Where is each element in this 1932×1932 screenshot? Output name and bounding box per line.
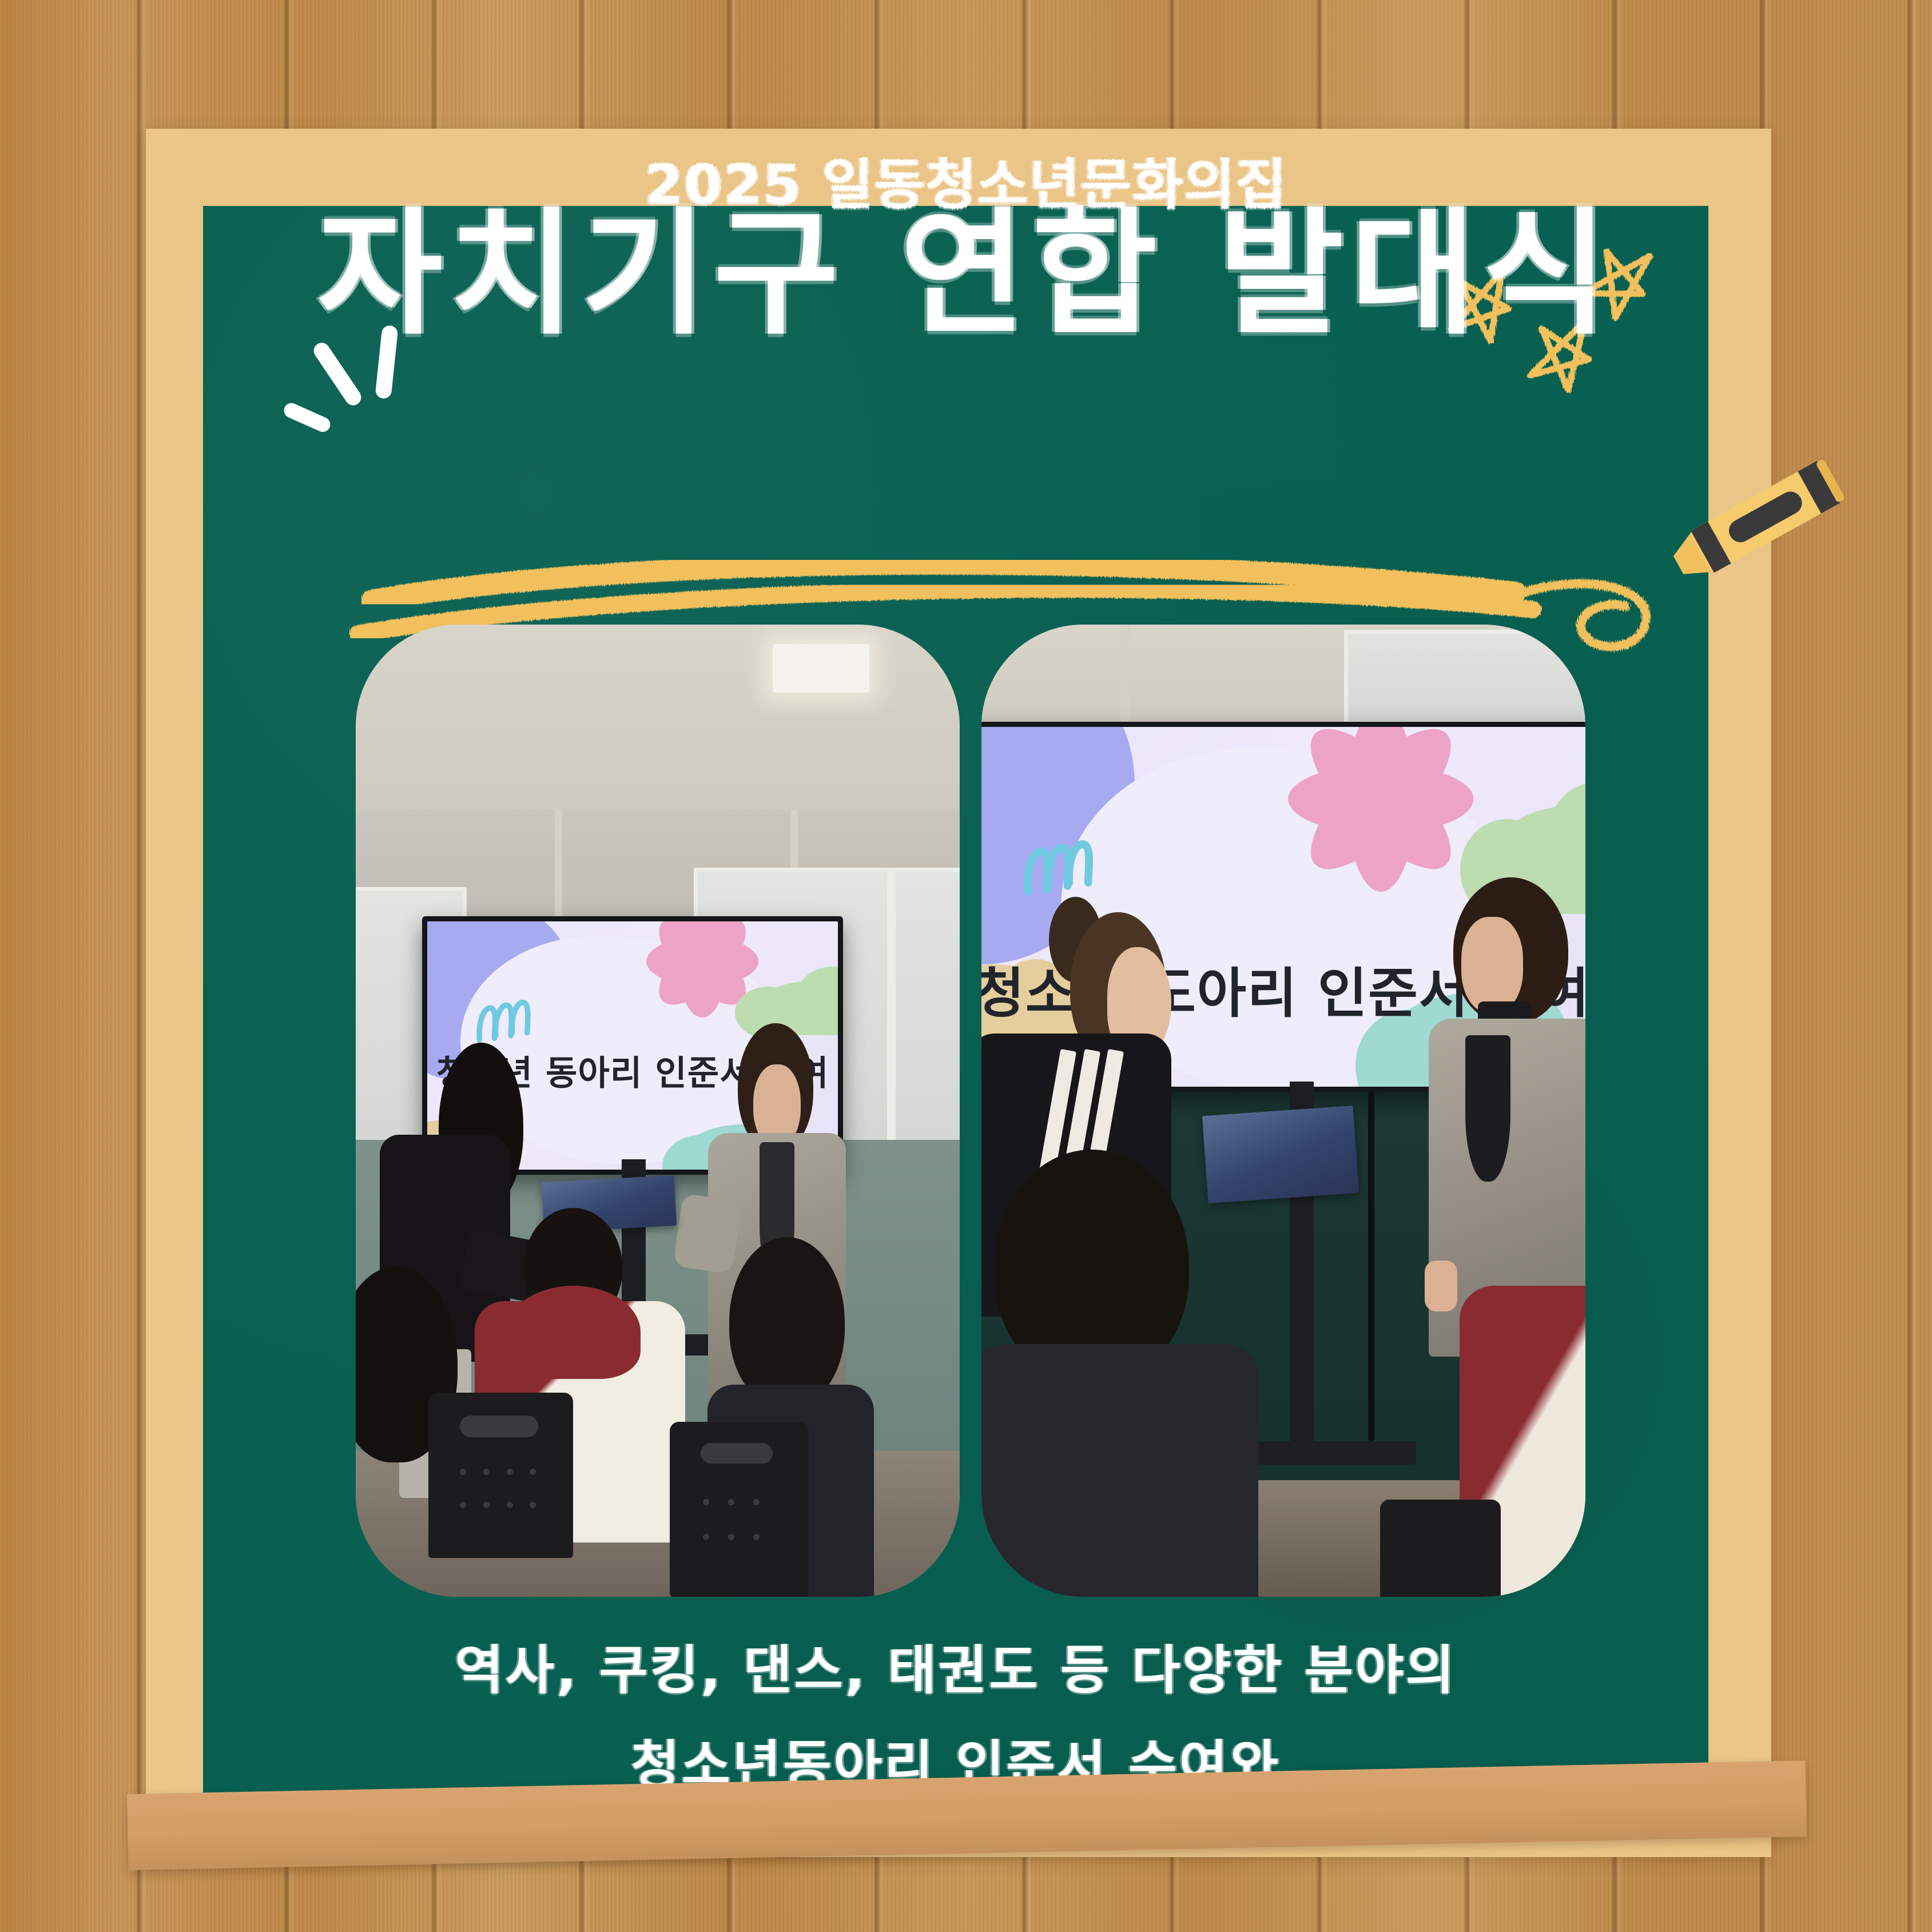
crayon-icon [1641, 440, 1887, 606]
chair-handle-slot [460, 1416, 538, 1437]
slide-logo-squiggle-icon [468, 991, 542, 1045]
spark-stroke-icon [281, 401, 332, 435]
person-body [981, 1344, 1258, 1597]
photo-gallery: 청소년 동아리 인준서 수여 [356, 625, 1587, 1597]
person-face [1461, 917, 1523, 1013]
window [1344, 630, 1585, 725]
screen-cable [1368, 1091, 1375, 1441]
chair [1380, 1500, 1501, 1597]
poster-root: 2025 일동청소년문화의집 자치기구 연합 발대식 [0, 0, 1932, 1932]
window-sash [887, 868, 896, 1150]
chair [670, 1422, 809, 1597]
ceiling [356, 625, 960, 809]
poster-title: 자치기구 연합 발대식 [0, 203, 1932, 346]
audience-member-foreground [981, 1150, 1283, 1597]
chair [428, 1393, 573, 1558]
slide-pink-flower-icon [1295, 727, 1468, 892]
person-lapel [1465, 1035, 1510, 1182]
chair-handle-slot [701, 1443, 773, 1464]
photo-right[interactable]: 청소년 도아리 인준서 수여 [981, 625, 1585, 1597]
person-hood [506, 1286, 640, 1379]
photo-left[interactable]: 청소년 동아리 인준서 수여 [356, 625, 960, 1597]
ceiling-light [773, 644, 869, 693]
caption-line-1: 역사, 쿠킹, 댄스, 태권도 등 다양한 분야의 [203, 1627, 1708, 1714]
person-head [729, 1237, 845, 1407]
wall-divider [1120, 625, 1129, 732]
crayon-decoration [1641, 440, 1887, 606]
